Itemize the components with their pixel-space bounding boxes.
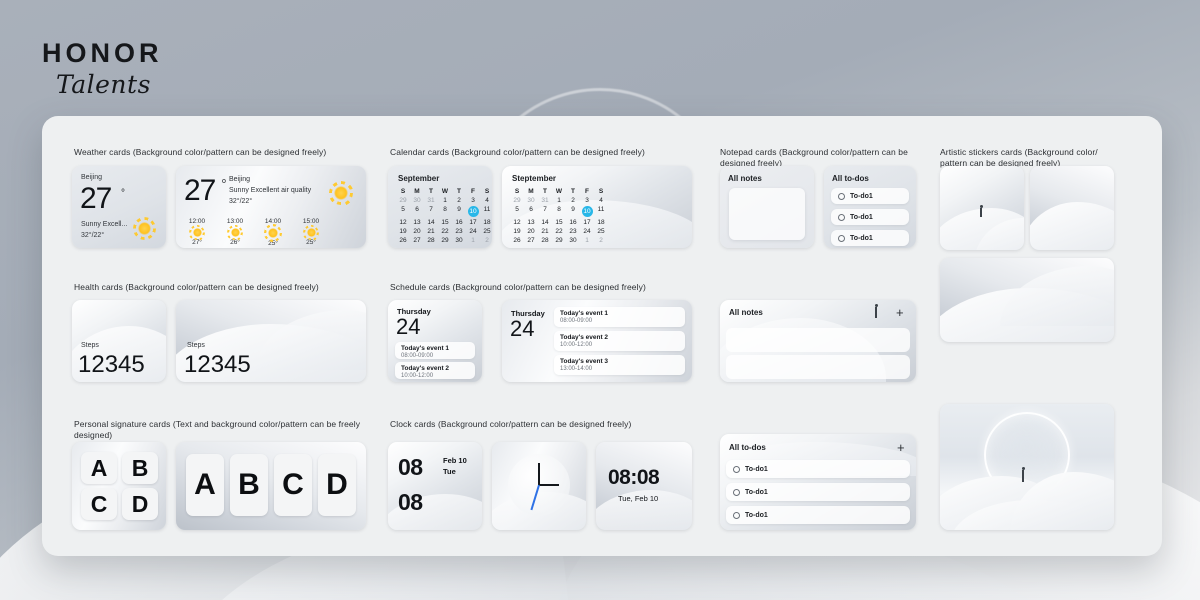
section-label-calendar: Calendar cards (Background color/pattern… <box>390 147 645 158</box>
calendar-dow: T <box>424 188 438 195</box>
calendar-dow: W <box>438 188 452 195</box>
weather-condition: Sunny Excell... <box>81 221 127 228</box>
calendar-dow: S <box>480 188 492 195</box>
signature-tile[interactable]: A <box>81 452 117 484</box>
calendar-day[interactable]: 3 <box>466 197 480 204</box>
checkbox-icon[interactable] <box>733 466 740 473</box>
calendar-day[interactable]: 1 <box>552 197 566 204</box>
todo-label: To-do1 <box>745 466 768 473</box>
calendar-dow: F <box>466 188 480 195</box>
calendar-dow: F <box>580 188 594 195</box>
checkbox-icon[interactable] <box>838 193 845 200</box>
sun-icon-large <box>334 186 348 200</box>
weather-city-large: Beijing <box>229 176 250 183</box>
sticker-card-3[interactable] <box>940 258 1114 342</box>
calendar-day[interactable]: 7 <box>424 206 438 217</box>
section-label-clock: Clock cards (Background color/pattern ca… <box>390 419 631 430</box>
checkbox-icon[interactable] <box>838 235 845 242</box>
weather-range-large: 32°/22° <box>229 198 252 205</box>
all-notes-title: All notes <box>729 308 763 317</box>
calendar-day[interactable]: 8 <box>438 206 452 217</box>
steps-value: 12345 <box>184 351 251 379</box>
brand-logo: HONOR Talents <box>42 38 163 99</box>
schedule-event[interactable]: Today's event 1 08:00-09:00 <box>395 342 475 359</box>
calendar-day[interactable]: 5 <box>396 206 410 217</box>
event-time: 08:00-09:00 <box>401 353 469 359</box>
person-figure-icon <box>875 307 877 318</box>
calendar-day[interactable]: 23 <box>452 228 466 235</box>
calendar-day[interactable]: 15 <box>552 219 566 226</box>
schedule-day: 24 <box>396 317 420 337</box>
event-title: Today's event 2 <box>560 334 679 341</box>
signature-tile[interactable]: D <box>318 454 356 516</box>
clock-card-analog[interactable] <box>492 442 586 530</box>
calendar-day[interactable]: 1 <box>580 237 594 244</box>
clock-date: Feb 10 <box>443 456 467 466</box>
calendar-day[interactable]: 22 <box>552 228 566 235</box>
all-todos-title: All to-dos <box>832 174 869 183</box>
todo-label: To-do1 <box>850 214 873 221</box>
signature-tile[interactable]: B <box>122 452 158 484</box>
weather-range: 32°/22° <box>81 232 104 239</box>
main-panel: Weather cards (Background color/pattern … <box>42 116 1162 556</box>
todo-label: To-do1 <box>745 512 768 519</box>
schedule-event[interactable]: Today's event 1 08:00-09:00 <box>554 307 685 327</box>
calendar-day[interactable]: 2 <box>480 237 492 244</box>
todo-row[interactable]: To-do1 <box>831 230 909 246</box>
steps-label: Steps <box>187 342 205 349</box>
person-figure-icon <box>980 208 982 217</box>
calendar-day[interactable]: 17 <box>580 219 594 226</box>
schedule-card-small[interactable]: Thursday 24 Today's event 1 08:00-09:00 … <box>388 300 482 382</box>
degree-icon: ° <box>121 188 125 199</box>
schedule-event[interactable]: Today's event 2 10:00-12:00 <box>395 362 475 379</box>
event-time: 10:00-12:00 <box>401 373 469 379</box>
calendar-day[interactable]: 11 <box>594 206 608 217</box>
calendar-card-small[interactable]: September SMTWTFS29303112345678910111213… <box>388 166 492 248</box>
calendar-day[interactable]: 8 <box>552 206 566 217</box>
calendar-dow: T <box>538 188 552 195</box>
person-figure-icon <box>1022 470 1024 482</box>
todos-card-wide[interactable]: All to-dos + To-do1 To-do1 To-do1 <box>720 434 916 530</box>
calendar-dow: M <box>524 188 538 195</box>
calendar-day[interactable]: 18 <box>480 219 492 226</box>
calendar-day[interactable]: 27 <box>524 237 538 244</box>
dune-decor <box>256 310 366 370</box>
note-row[interactable] <box>726 355 910 379</box>
note-row[interactable] <box>726 328 910 352</box>
signature-tile[interactable]: C <box>81 488 117 520</box>
steps-label: Steps <box>81 342 99 349</box>
calendar-day[interactable]: 2 <box>594 237 608 244</box>
calendar-day[interactable]: 23 <box>566 228 580 235</box>
calendar-day[interactable]: 15 <box>438 219 452 226</box>
notes-card-wide[interactable]: All notes + <box>720 300 916 382</box>
calendar-day[interactable]: 4 <box>480 197 492 204</box>
calendar-day[interactable]: 1 <box>438 197 452 204</box>
calendar-month: September <box>398 174 439 183</box>
calendar-day[interactable]: 31 <box>424 197 438 204</box>
sun-icon-hour-3 <box>307 228 316 237</box>
clock-minute: 08 <box>398 489 423 516</box>
schedule-day: 24 <box>510 319 534 339</box>
clock-time: 08:08 <box>608 466 659 490</box>
clock-card-stacked[interactable]: 08 Feb 10 Tue 08 <box>388 442 482 530</box>
section-label-signature: Personal signature cards (Text and backg… <box>74 419 374 442</box>
calendar-day[interactable]: 30 <box>524 197 538 204</box>
calendar-day[interactable]: 14 <box>424 219 438 226</box>
weather-temperature: 27 <box>80 182 111 216</box>
calendar-day[interactable]: 9 <box>566 206 580 217</box>
calendar-day[interactable]: 13 <box>524 219 538 226</box>
calendar-day[interactable]: 2 <box>452 197 466 204</box>
all-todos-title: All to-dos <box>729 443 766 452</box>
health-card-small[interactable]: Steps 12345 <box>72 300 166 382</box>
calendar-month: Steptember <box>512 174 556 183</box>
calendar-day[interactable]: 3 <box>580 197 594 204</box>
calendar-day[interactable]: 11 <box>480 206 492 217</box>
calendar-day[interactable]: 29 <box>510 197 524 204</box>
clock-hour: 08 <box>398 454 423 481</box>
calendar-day[interactable]: 1 <box>466 237 480 244</box>
todo-label: To-do1 <box>745 489 768 496</box>
sticker-card-2[interactable] <box>1030 166 1114 250</box>
calendar-dow: T <box>452 188 466 195</box>
weather-hour-3: 15:00 25° <box>296 218 326 246</box>
todo-row[interactable]: To-do1 <box>726 483 910 501</box>
weather-hour-1: 13:00 26° <box>220 218 250 246</box>
signature-card-grid[interactable]: A B C D <box>72 442 166 530</box>
calendar-day[interactable]: 30 <box>452 237 466 244</box>
calendar-day-selected[interactable]: 10 <box>466 206 480 217</box>
notepad-card-all-todos[interactable]: All to-dos To-do1 To-do1 To-do1 <box>824 166 916 248</box>
note-preview[interactable] <box>729 188 805 240</box>
signature-card-row[interactable]: A B C D <box>176 442 366 530</box>
add-note-button[interactable]: + <box>896 306 904 319</box>
signature-tile[interactable]: C <box>274 454 312 516</box>
checkbox-icon[interactable] <box>838 214 845 221</box>
event-title: Today's event 1 <box>560 310 679 317</box>
calendar-day[interactable]: 5 <box>510 206 524 217</box>
calendar-card-large[interactable]: Steptember SMTWTFS2930311234567891011121… <box>502 166 692 248</box>
calendar-day[interactable]: 17 <box>466 219 480 226</box>
steps-value: 12345 <box>78 351 145 379</box>
calendar-day[interactable]: 29 <box>438 237 452 244</box>
checkbox-icon[interactable] <box>733 512 740 519</box>
todo-row[interactable]: To-do1 <box>726 506 910 524</box>
calendar-day[interactable]: 19 <box>396 228 410 235</box>
calendar-day[interactable]: 30 <box>410 197 424 204</box>
event-time: 13:00-14:00 <box>560 366 679 372</box>
sun-icon-hour-1 <box>231 228 240 237</box>
calendar-day[interactable]: 19 <box>510 228 524 235</box>
calendar-day[interactable]: 24 <box>466 228 480 235</box>
calendar-day[interactable]: 4 <box>594 197 608 204</box>
calendar-dow: M <box>410 188 424 195</box>
calendar-day[interactable]: 12 <box>396 219 410 226</box>
calendar-day[interactable]: 27 <box>410 237 424 244</box>
checkbox-icon[interactable] <box>733 489 740 496</box>
event-title: Today's event 3 <box>560 358 679 365</box>
todo-row[interactable]: To-do1 <box>726 460 910 478</box>
add-todo-button[interactable]: + <box>897 441 905 454</box>
calendar-day[interactable]: 28 <box>424 237 438 244</box>
sun-icon-hour-2 <box>268 228 278 238</box>
event-time: 10:00-12:00 <box>560 342 679 348</box>
calendar-day[interactable]: 31 <box>538 197 552 204</box>
calendar-day[interactable]: 13 <box>410 219 424 226</box>
calendar-day[interactable]: 21 <box>424 228 438 235</box>
sun-icon <box>138 222 151 235</box>
calendar-day[interactable]: 21 <box>538 228 552 235</box>
calendar-day[interactable]: 26 <box>510 237 524 244</box>
calendar-day[interactable]: 25 <box>480 228 492 235</box>
degree-icon-large: o <box>222 178 226 185</box>
calendar-day[interactable]: 30 <box>566 237 580 244</box>
calendar-day[interactable]: 26 <box>396 237 410 244</box>
section-label-schedule: Schedule cards (Background color/pattern… <box>390 282 646 293</box>
todo-label: To-do1 <box>850 193 873 200</box>
todo-label: To-do1 <box>850 235 873 242</box>
calendar-day[interactable]: 29 <box>396 197 410 204</box>
weather-card-large[interactable]: 27 o Beijing Sunny Excellent air quality… <box>176 166 366 248</box>
calendar-day[interactable]: 28 <box>538 237 552 244</box>
signature-tile[interactable]: D <box>122 488 158 520</box>
calendar-day-selected[interactable]: 10 <box>580 206 594 217</box>
brand-name: HONOR <box>42 38 163 69</box>
calendar-day[interactable]: 20 <box>410 228 424 235</box>
weather-city: Beijing <box>81 174 102 181</box>
notepad-card-all-notes[interactable]: All notes <box>720 166 814 248</box>
calendar-dow: S <box>510 188 524 195</box>
calendar-grid[interactable]: SMTWTFS293031123456789101112131415161718… <box>396 188 492 244</box>
todo-row[interactable]: To-do1 <box>831 209 909 225</box>
calendar-day[interactable]: 24 <box>580 228 594 235</box>
event-time: 08:00-09:00 <box>560 318 679 324</box>
schedule-event[interactable]: Today's event 3 13:00-14:00 <box>554 355 685 375</box>
calendar-day[interactable]: 2 <box>566 197 580 204</box>
calendar-dow: W <box>552 188 566 195</box>
section-label-health: Health cards (Background color/pattern c… <box>74 282 319 293</box>
schedule-card-large[interactable]: Thursday 24 Today's event 1 08:00-09:00 … <box>502 300 692 382</box>
clock-card-digital[interactable]: 08:08 Tue, Feb 10 <box>596 442 692 530</box>
sun-icon-hour-0 <box>193 228 202 237</box>
weather-temperature-large: 27 <box>184 174 215 208</box>
event-title: Today's event 1 <box>401 345 469 352</box>
all-notes-title: All notes <box>728 174 762 183</box>
calendar-dow: S <box>396 188 410 195</box>
calendar-day[interactable]: 22 <box>438 228 452 235</box>
calendar-day[interactable]: 9 <box>452 206 466 217</box>
weather-card-small[interactable]: Beijing 27 ° Sunny Excell... 32°/22° <box>72 166 166 248</box>
calendar-day[interactable]: 25 <box>594 228 608 235</box>
calendar-day[interactable]: 16 <box>452 219 466 226</box>
weather-condition-large: Sunny Excellent air quality <box>229 187 311 194</box>
section-label-weather: Weather cards (Background color/pattern … <box>74 147 326 158</box>
calendar-day[interactable]: 16 <box>566 219 580 226</box>
calendar-day[interactable]: 6 <box>524 206 538 217</box>
dune-decor <box>1000 266 1114 326</box>
calendar-day[interactable]: 12 <box>510 219 524 226</box>
health-card-large[interactable]: Steps 12345 <box>176 300 366 382</box>
calendar-day[interactable]: 20 <box>524 228 538 235</box>
dune-decor <box>1030 202 1114 250</box>
sticker-card-1[interactable] <box>940 166 1024 250</box>
calendar-day[interactable]: 18 <box>594 219 608 226</box>
clock-minute-hand <box>539 484 559 486</box>
calendar-dow: S <box>594 188 608 195</box>
signature-tile[interactable]: B <box>230 454 268 516</box>
sticker-card-4[interactable] <box>940 404 1114 530</box>
calendar-day[interactable]: 6 <box>410 206 424 217</box>
calendar-day[interactable]: 29 <box>552 237 566 244</box>
signature-tile[interactable]: A <box>186 454 224 516</box>
weather-hour-0: 12:00 27° <box>182 218 212 246</box>
clock-date: Tue, Feb 10 <box>618 494 658 504</box>
todo-row[interactable]: To-do1 <box>831 188 909 204</box>
calendar-grid[interactable]: SMTWTFS293031123456789101112131415161718… <box>510 188 608 244</box>
clock-second-hand <box>530 485 539 510</box>
schedule-event[interactable]: Today's event 2 10:00-12:00 <box>554 331 685 351</box>
calendar-dow: T <box>566 188 580 195</box>
weather-hour-2: 14:00 25° <box>258 218 288 247</box>
brand-subtitle: Talents <box>56 70 163 99</box>
event-title: Today's event 2 <box>401 365 469 372</box>
clock-hour-hand <box>538 463 540 485</box>
calendar-day[interactable]: 7 <box>538 206 552 217</box>
clock-weekday: Tue <box>443 467 456 477</box>
calendar-day[interactable]: 14 <box>538 219 552 226</box>
clock-face <box>508 454 570 516</box>
